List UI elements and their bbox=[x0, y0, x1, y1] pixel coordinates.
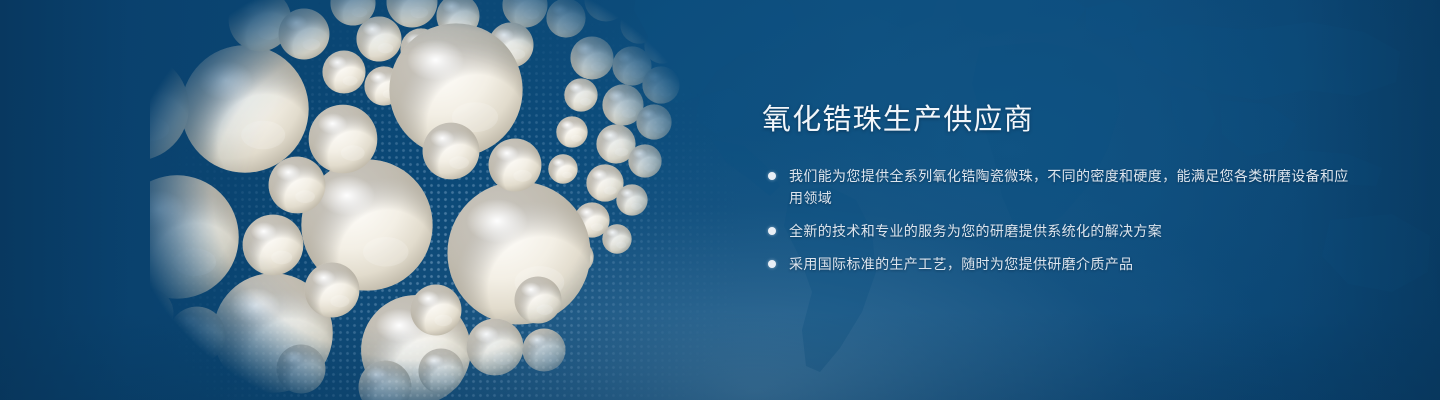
hero-banner: 氧化锆珠生产供应商 我们能为您提供全系列氧化锆陶瓷微珠，不同的密度和硬度，能满足… bbox=[0, 0, 1440, 400]
feature-bullet-list: 我们能为您提供全系列氧化锆陶瓷微珠，不同的密度和硬度，能满足您各类研磨设备和应用… bbox=[762, 165, 1362, 275]
list-item: 我们能为您提供全系列氧化锆陶瓷微珠，不同的密度和硬度，能满足您各类研磨设备和应用… bbox=[762, 165, 1362, 209]
bullet-text: 全新的技术和专业的服务为您的研磨提供系统化的解决方案 bbox=[789, 220, 1362, 242]
banner-content: 氧化锆珠生产供应商 我们能为您提供全系列氧化锆陶瓷微珠，不同的密度和硬度，能满足… bbox=[762, 104, 1362, 275]
bullet-dot-icon bbox=[768, 227, 776, 235]
list-item: 采用国际标准的生产工艺，随时为您提供研磨介质产品 bbox=[762, 253, 1362, 275]
bullet-dot-icon bbox=[768, 172, 776, 180]
bullet-text: 我们能为您提供全系列氧化锆陶瓷微珠，不同的密度和硬度，能满足您各类研磨设备和应用… bbox=[789, 165, 1362, 209]
bullet-dot-icon bbox=[768, 260, 776, 268]
page-title: 氧化锆珠生产供应商 bbox=[762, 104, 1362, 137]
list-item: 全新的技术和专业的服务为您的研磨提供系统化的解决方案 bbox=[762, 220, 1362, 242]
bullet-text: 采用国际标准的生产工艺，随时为您提供研磨介质产品 bbox=[789, 253, 1362, 275]
